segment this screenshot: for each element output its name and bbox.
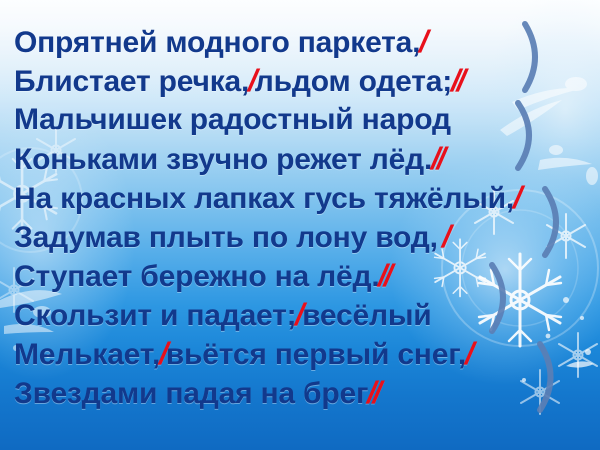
poem-line-text: Скользит и падает; xyxy=(14,299,296,332)
poem-line-text-2: весёлый xyxy=(302,299,431,332)
poem-line-text: На красных лапках гусь тяжёлый, xyxy=(14,182,514,215)
poem-line-text: Звездами падая на брег xyxy=(14,377,368,410)
poem-line: Мальчишек радостный народ xyxy=(14,100,574,139)
poem-line: Ступает бережно на лёд.// xyxy=(14,256,574,295)
poem-slide: Опрятней модного паркета,/ Блистает речк… xyxy=(0,0,600,450)
poem-line-text: Задумав плыть по лону вод, xyxy=(14,221,438,254)
poem-line-text: Мальчишек радостный народ xyxy=(14,103,451,136)
poem-line-text: Коньками звучно режет лёд. xyxy=(14,143,432,176)
poem-line: Скользит и падает;/весёлый xyxy=(14,295,574,334)
poem-line: Опрятней модного паркета,/ xyxy=(14,22,574,61)
poem-line-text: Ступает бережно на лёд. xyxy=(14,260,379,293)
poem-line: Блистает речка,/льдом одета;// xyxy=(14,61,574,100)
poem-line: На красных лапках гусь тяжёлый,/ xyxy=(14,178,574,217)
poem-line-text-2: вьётся первый снег, xyxy=(166,338,466,371)
poem-line-text: Опрятней модного паркета, xyxy=(14,26,420,59)
poem-line-text: Блистает речка, xyxy=(14,65,249,98)
poem-line: Мелькает,/вьётся первый снег,/ xyxy=(14,334,574,373)
poem-line: Задумав плыть по лону вод,/ xyxy=(14,217,574,256)
poem-line-text-2: льдом одета; xyxy=(255,65,452,98)
poem-line: Коньками звучно режет лёд.// xyxy=(14,139,574,178)
poem-line: Звездами падая на брег// xyxy=(14,373,574,412)
poem-line-text: Мелькает, xyxy=(14,338,160,371)
pause-mark: / xyxy=(438,217,453,256)
poem-text-block: Опрятней модного паркета,/ Блистает речк… xyxy=(14,22,574,412)
